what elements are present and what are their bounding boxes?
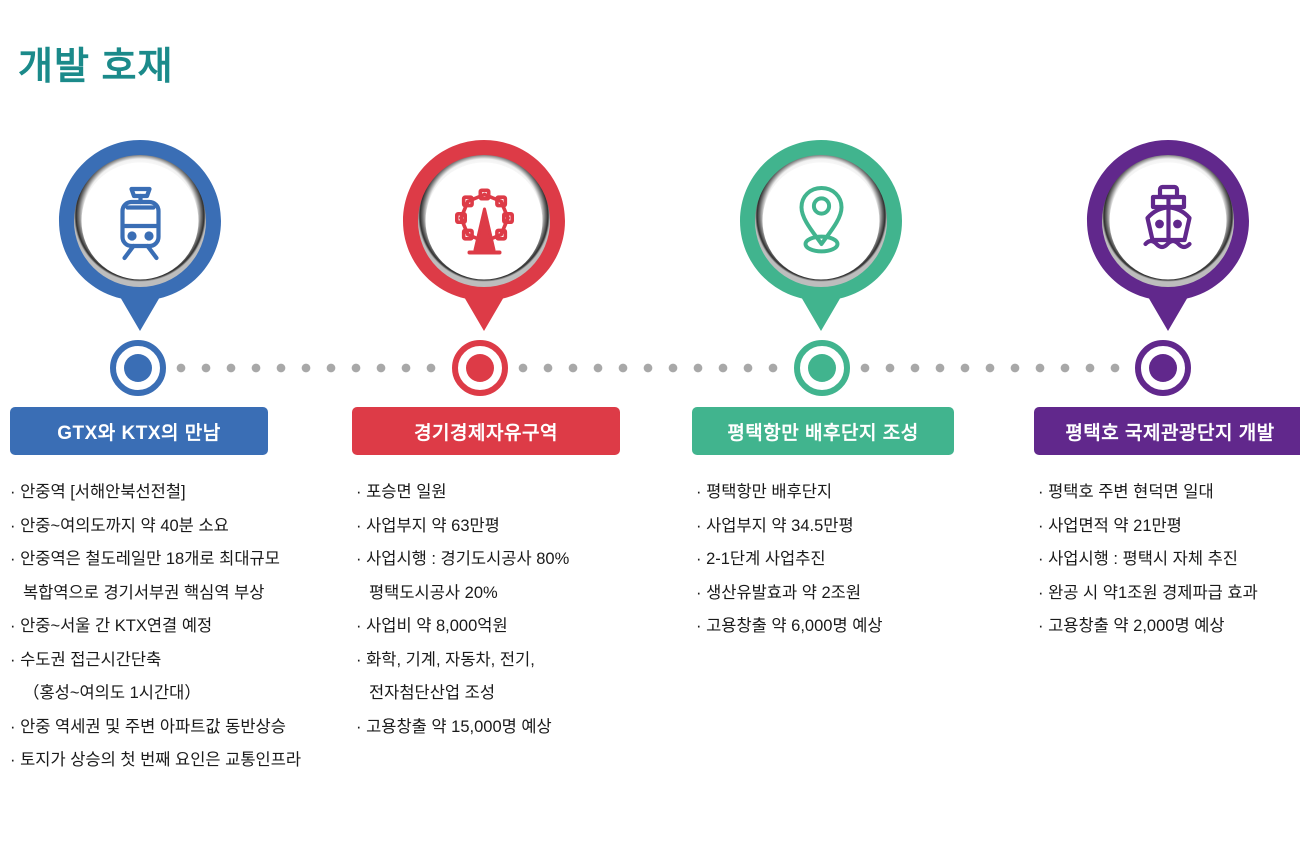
milestone-label-text: GTX와 KTX의 만남 [57, 418, 221, 445]
milestone-column: GTX와 KTX의 만남· 안중역 [서해안북선전철]· 안중~여의도까지 약 … [2, 0, 332, 843]
milestone-column: 평택호 국제관광단지 개발· 평택호 주변 현덕면 일대· 사업면적 약 21만… [1020, 0, 1300, 843]
detail-line: · 안중역은 철도레일만 18개로 최대규모 [10, 551, 330, 568]
detail-line: · 고용창출 약 15,000명 예상 [356, 719, 676, 736]
detail-line-continuation: 평택도시공사 20% [356, 585, 676, 602]
milestone-label-text: 평택항만 배후단지 조성 [727, 418, 918, 445]
ferris-wheel-icon [399, 138, 569, 333]
detail-line-continuation: （홍성~여의도 1시간대） [10, 685, 330, 702]
train-icon [55, 138, 225, 333]
detail-line: · 사업시행 : 평택시 자체 추진 [1038, 551, 1300, 568]
milestone-label-text: 경기경제자유구역 [414, 418, 558, 445]
detail-line: · 안중~서울 간 KTX연결 예정 [10, 618, 330, 635]
pin-marker-train[interactable] [55, 138, 225, 333]
detail-line-continuation: 복합역으로 경기서부권 핵심역 부상 [10, 585, 330, 602]
detail-line: · 생산유발효과 약 2조원 [696, 585, 1016, 602]
detail-line: · 토지가 상승의 첫 번째 요인은 교통인프라 [10, 752, 330, 769]
milestone-label-bar[interactable]: 경기경제자유구역 [352, 407, 620, 455]
detail-line: · 고용창출 약 6,000명 예상 [696, 618, 1016, 635]
detail-line: · 고용창출 약 2,000명 예상 [1038, 618, 1300, 635]
detail-line: · 안중~여의도까지 약 40분 소요 [10, 518, 330, 535]
detail-line: · 안중역 [서해안북선전철] [10, 484, 330, 501]
detail-line: · 평택호 주변 현덕면 일대 [1038, 484, 1300, 501]
detail-line: · 화학, 기계, 자동차, 전기, [356, 652, 676, 669]
detail-line: · 2-1단계 사업추진 [696, 551, 1016, 568]
milestone-columns: GTX와 KTX의 만남· 안중역 [서해안북선전철]· 안중~여의도까지 약 … [0, 0, 1300, 843]
milestone-column: 경기경제자유구역· 포승면 일원· 사업부지 약 63만평· 사업시행 : 경기… [344, 0, 674, 843]
detail-line: · 포승면 일원 [356, 484, 676, 501]
detail-line: · 사업면적 약 21만평 [1038, 518, 1300, 535]
detail-line: · 안중 역세권 및 주변 아파트값 동반상승 [10, 719, 330, 736]
pin-marker-ferris-wheel[interactable] [399, 138, 569, 333]
detail-line: · 완공 시 약1조원 경제파급 효과 [1038, 585, 1300, 602]
detail-line: · 사업시행 : 경기도시공사 80% [356, 551, 676, 568]
pin-marker-ship[interactable] [1083, 138, 1253, 333]
milestone-detail-list: · 평택항만 배후단지· 사업부지 약 34.5만평· 2-1단계 사업추진· … [696, 484, 1016, 652]
detail-line: · 사업부지 약 63만평 [356, 518, 676, 535]
milestone-detail-list: · 포승면 일원· 사업부지 약 63만평· 사업시행 : 경기도시공사 80%… [356, 484, 676, 752]
milestone-detail-list: · 평택호 주변 현덕면 일대· 사업면적 약 21만평· 사업시행 : 평택시… [1038, 484, 1300, 652]
milestone-label-bar[interactable]: 평택호 국제관광단지 개발 [1034, 407, 1300, 455]
milestone-label-bar[interactable]: 평택항만 배후단지 조성 [692, 407, 954, 455]
milestone-label-text: 평택호 국제관광단지 개발 [1065, 418, 1274, 445]
map-pin-icon [736, 138, 906, 333]
detail-line: · 사업비 약 8,000억원 [356, 618, 676, 635]
ship-icon [1083, 138, 1253, 333]
milestone-label-bar[interactable]: GTX와 KTX의 만남 [10, 407, 268, 455]
pin-marker-map-pin[interactable] [736, 138, 906, 333]
milestone-detail-list: · 안중역 [서해안북선전철]· 안중~여의도까지 약 40분 소요· 안중역은… [10, 484, 330, 786]
detail-line: · 사업부지 약 34.5만평 [696, 518, 1016, 535]
detail-line-continuation: 전자첨단산업 조성 [356, 685, 676, 702]
detail-line: · 평택항만 배후단지 [696, 484, 1016, 501]
milestone-column: 평택항만 배후단지 조성· 평택항만 배후단지· 사업부지 약 34.5만평· … [686, 0, 1016, 843]
detail-line: · 수도권 접근시간단축 [10, 652, 330, 669]
